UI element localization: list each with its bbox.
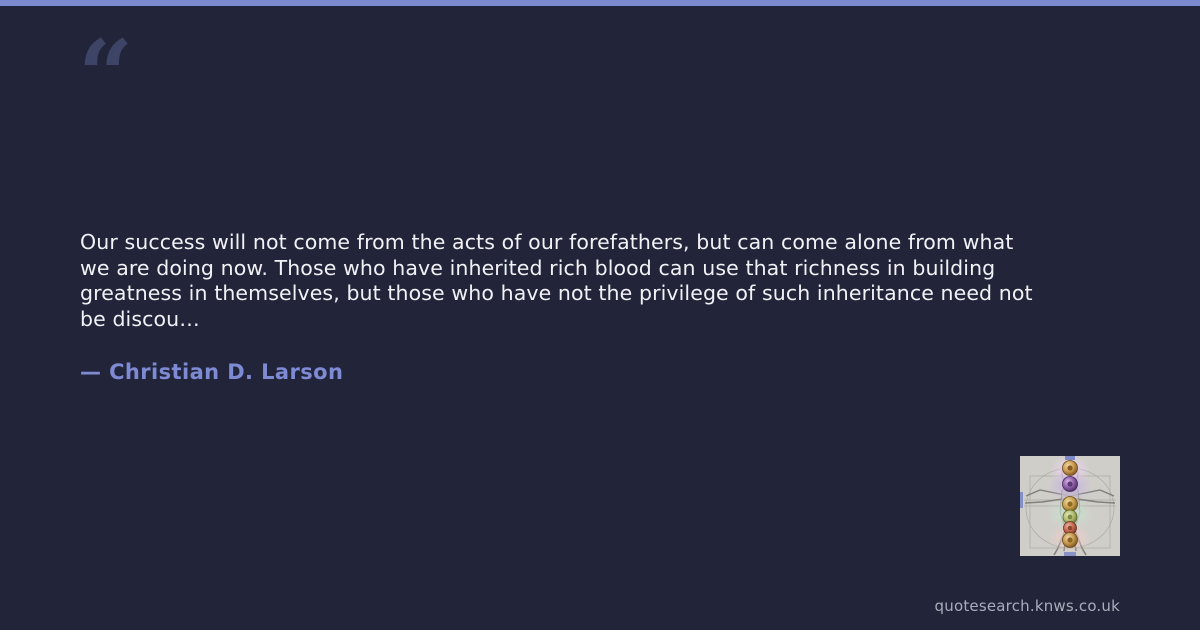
source-url[interactable]: quotesearch.knws.co.uk <box>935 597 1120 615</box>
quote-text: Our success will not come from the acts … <box>80 230 1040 332</box>
quote-thumbnail[interactable] <box>1020 456 1120 556</box>
quote-author: — Christian D. Larson <box>80 360 343 384</box>
open-quote-icon: “ <box>78 28 131 124</box>
quote-card: “ Our success will not come from the act… <box>0 6 1200 630</box>
vitruvian-man-chakras-icon <box>1020 456 1120 556</box>
quote-block: Our success will not come from the acts … <box>80 230 1040 332</box>
